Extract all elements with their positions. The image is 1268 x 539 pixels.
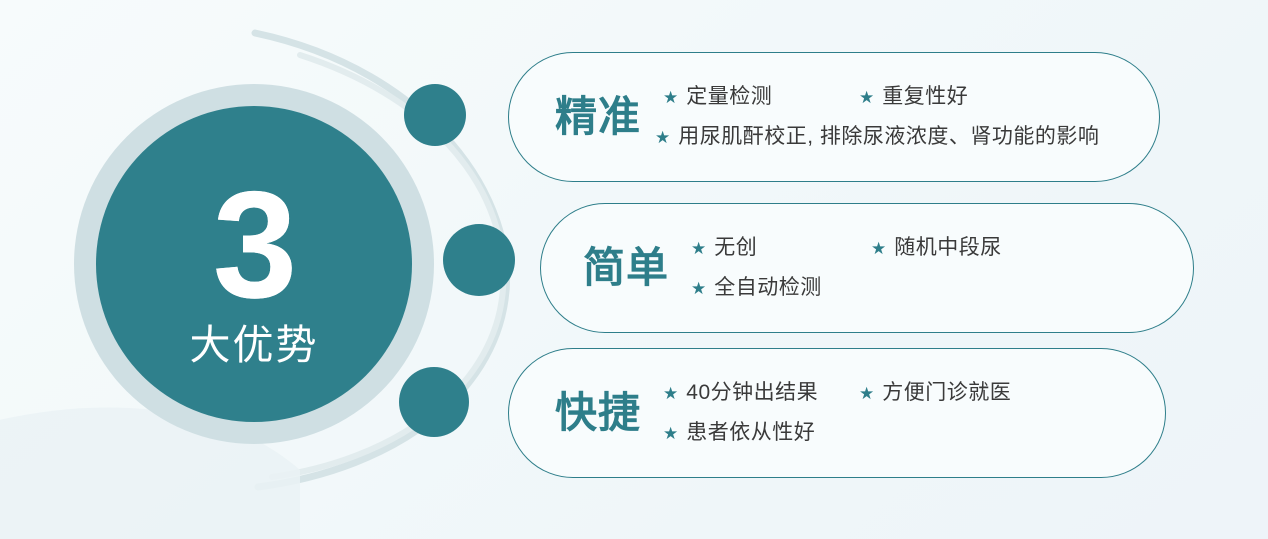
card-title-precise: 精准 (555, 96, 641, 138)
bullet-item: ★ 无创 (691, 235, 871, 260)
bullet-item: ★ 40分钟出结果 (663, 380, 859, 405)
bullet-label: 重复性好 (882, 84, 968, 109)
bullet-label: 患者依从性好 (686, 420, 815, 445)
bullet-item: ★ 方便门诊就医 (859, 380, 1011, 405)
card-bullets-simple: ★ 无创 ★ 随机中段尿 ★ 全自动检测 (691, 228, 1193, 308)
bullet-label: 40分钟出结果 (686, 380, 818, 405)
badge-caption: 大优势 (190, 325, 319, 366)
bullet-label: 用尿肌酐校正, 排除尿液浓度、肾功能的影响 (678, 124, 1099, 149)
badge-number: 3 (213, 169, 296, 321)
card-title-simple: 简单 (583, 247, 669, 289)
bullet-label: 无创 (714, 235, 757, 260)
star-icon: ★ (663, 89, 678, 106)
card-title-fast: 快捷 (555, 392, 641, 434)
bullet-row: ★ 定量检测 ★ 重复性好 (663, 77, 1131, 117)
bullet-row: ★ 全自动检测 (691, 268, 1165, 308)
card-bullets-precise: ★ 定量检测 ★ 重复性好 ★ 用尿肌酐校正, 排除尿液浓度、肾功能的影响 (663, 77, 1159, 157)
bullet-item: ★ 随机中段尿 (871, 235, 1002, 260)
bullet-item: ★ 全自动检测 (691, 275, 822, 300)
connector-dot-bottom (399, 367, 469, 437)
star-icon: ★ (859, 385, 874, 402)
card-bullets-fast: ★ 40分钟出结果 ★ 方便门诊就医 ★ 患者依从性好 (663, 373, 1165, 453)
star-icon: ★ (691, 280, 706, 297)
connector-dot-middle (443, 224, 515, 296)
star-icon: ★ (859, 89, 874, 106)
bullet-row: ★ 无创 ★ 随机中段尿 (691, 228, 1165, 268)
star-icon: ★ (663, 425, 678, 442)
star-icon: ★ (655, 129, 670, 146)
bullet-item: ★ 用尿肌酐校正, 排除尿液浓度、肾功能的影响 (655, 124, 1099, 149)
infographic-canvas: 3 大优势 精准 ★ 定量检测 ★ 重复性好 ★ 用尿肌酐校正, 排除尿液浓 (0, 0, 1268, 539)
bullet-label: 方便门诊就医 (882, 380, 1011, 405)
star-icon: ★ (871, 240, 886, 257)
star-icon: ★ (663, 385, 678, 402)
bullet-row: ★ 患者依从性好 (663, 413, 1137, 453)
advantage-card-simple[interactable]: 简单 ★ 无创 ★ 随机中段尿 ★ 全自动检测 (540, 203, 1194, 333)
connector-dot-top (404, 84, 466, 146)
advantage-card-precise[interactable]: 精准 ★ 定量检测 ★ 重复性好 ★ 用尿肌酐校正, 排除尿液浓度、肾功能的影响 (508, 52, 1160, 182)
bullet-label: 定量检测 (686, 84, 772, 109)
bullet-item: ★ 定量检测 (663, 84, 859, 109)
bullet-item: ★ 重复性好 (859, 84, 968, 109)
badge-label-group: 3 大优势 (96, 106, 412, 422)
advantage-card-fast[interactable]: 快捷 ★ 40分钟出结果 ★ 方便门诊就医 ★ 患者依从性好 (508, 348, 1166, 478)
star-icon: ★ (691, 240, 706, 257)
bullet-row: ★ 用尿肌酐校正, 排除尿液浓度、肾功能的影响 (655, 117, 1131, 157)
bullet-label: 全自动检测 (714, 275, 822, 300)
bullet-label: 随机中段尿 (894, 235, 1002, 260)
bullet-item: ★ 患者依从性好 (663, 420, 815, 445)
bullet-row: ★ 40分钟出结果 ★ 方便门诊就医 (663, 373, 1137, 413)
